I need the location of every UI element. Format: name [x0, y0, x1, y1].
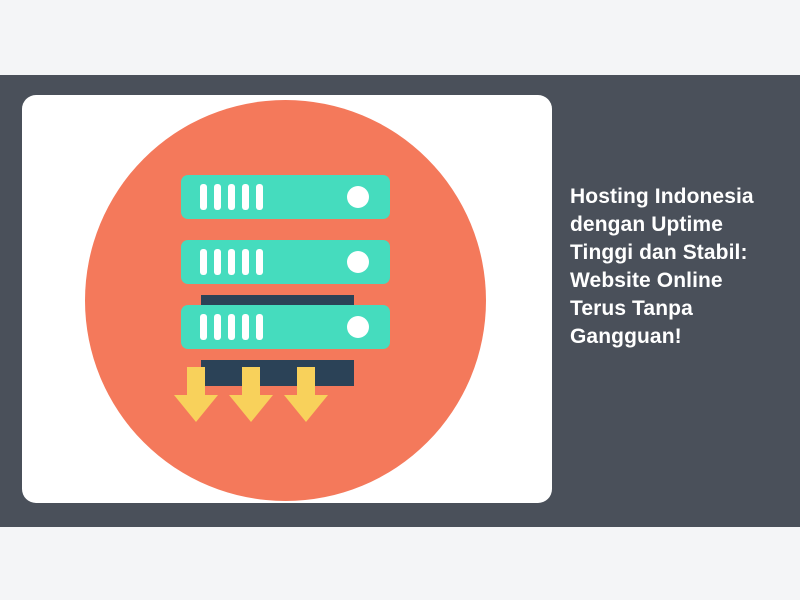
vent-bar-icon: [200, 249, 207, 275]
download-arrow-icon: [229, 367, 273, 422]
vent-bar-icon: [242, 184, 249, 210]
article-headline[interactable]: Hosting Indonesia dengan Uptime Tinggi d…: [570, 183, 766, 351]
vent-bar-icon: [256, 184, 263, 210]
vent-bar-icon: [242, 314, 249, 340]
server-rack-download-illustration: [22, 95, 552, 503]
server-status-led-icon: [347, 316, 369, 338]
page-stage: Hosting Indonesia dengan Uptime Tinggi d…: [0, 0, 800, 600]
vent-bar-icon: [228, 184, 235, 210]
vent-bar-icon: [214, 249, 221, 275]
server-vents-bottom: [200, 314, 263, 340]
download-arrow-icon: [284, 367, 328, 422]
server-status-led-icon: [347, 186, 369, 208]
arrow-shaft: [187, 367, 205, 397]
vent-bar-icon: [200, 314, 207, 340]
vent-bar-icon: [256, 249, 263, 275]
arrow-shaft: [297, 367, 315, 397]
server-unit-bottom: [181, 305, 390, 349]
server-unit-top: [181, 175, 390, 219]
server-status-led-icon: [347, 251, 369, 273]
server-vents-top: [200, 184, 263, 210]
download-arrows-group: [174, 367, 399, 427]
arrow-shaft: [242, 367, 260, 397]
vent-bar-icon: [214, 314, 221, 340]
arrow-head: [174, 395, 218, 422]
arrow-head: [284, 395, 328, 422]
vent-bar-icon: [228, 249, 235, 275]
vent-bar-icon: [256, 314, 263, 340]
download-arrow-icon: [174, 367, 218, 422]
article-featured-image-card[interactable]: [22, 95, 552, 503]
vent-bar-icon: [242, 249, 249, 275]
vent-bar-icon: [228, 314, 235, 340]
server-unit-middle: [181, 240, 390, 284]
arrow-head: [229, 395, 273, 422]
server-vents-middle: [200, 249, 263, 275]
vent-bar-icon: [200, 184, 207, 210]
vent-bar-icon: [214, 184, 221, 210]
